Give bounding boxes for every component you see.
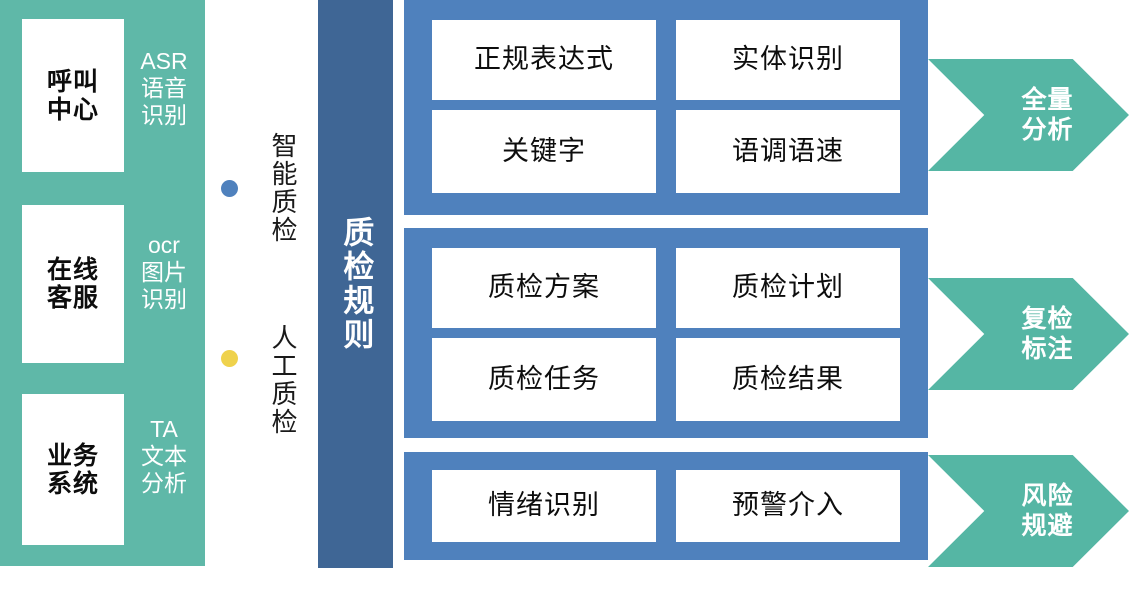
channel-label: 业务 系统 — [47, 442, 99, 498]
rule-item-box[interactable]: 质检方案 — [432, 248, 656, 328]
channel-label-line2: 客服 — [47, 284, 99, 312]
outcome-label-line2: 规避 — [1021, 511, 1073, 541]
tech-line1: 语音 — [128, 75, 200, 102]
rule-item-label: 语调语速 — [732, 137, 844, 167]
outcome-label: 全量 分析 — [1021, 85, 1073, 145]
bullet-dot-icon-intelligent — [221, 180, 238, 197]
rule-item-label: 预警介入 — [732, 491, 844, 521]
channel-box-call-center[interactable]: 呼叫 中心 — [22, 19, 124, 172]
rule-group-panel-1: 正规表达式 实体识别 关键字 语调语速 — [404, 0, 928, 215]
qc-rule-panel-title: 质检规则 — [337, 216, 375, 352]
tech-code: TA — [128, 416, 200, 443]
tech-code: ASR — [128, 48, 200, 75]
rule-item-box[interactable]: 预警介入 — [676, 470, 900, 542]
channel-label-line1: 业务 — [47, 442, 99, 470]
rule-item-box[interactable]: 实体识别 — [676, 20, 900, 100]
channel-label-line2: 系统 — [47, 470, 99, 498]
channel-label: 呼叫 中心 — [47, 68, 99, 124]
outcome-label-line2: 分析 — [1021, 115, 1073, 145]
rule-item-label: 情绪识别 — [488, 491, 600, 521]
bullet-label-intelligent-qc: 智能质检 — [258, 108, 298, 268]
outcome-label: 复检 标注 — [1021, 304, 1073, 364]
bullet-label-manual-qc: 人工质检 — [258, 300, 298, 460]
tech-line1: 图片 — [128, 259, 200, 286]
rule-group-panel-2: 质检方案 质检计划 质检任务 质检结果 — [404, 228, 928, 438]
channel-label-line1: 呼叫 — [47, 68, 99, 96]
rule-item-box[interactable]: 情绪识别 — [432, 470, 656, 542]
channel-source-panel: 呼叫 中心 在线 客服 业务 系统 ASR 语音 识别 ocr 图片 识别 — [0, 0, 205, 566]
tech-label-ta: TA 文本 分析 — [128, 416, 200, 497]
rule-item-label: 实体识别 — [732, 45, 844, 75]
channel-label-line2: 中心 — [47, 96, 99, 124]
rule-item-label: 质检计划 — [732, 273, 844, 303]
tech-label-asr: ASR 语音 识别 — [128, 48, 200, 129]
channel-label: 在线 客服 — [47, 256, 99, 312]
rule-item-label: 关键字 — [502, 137, 586, 167]
tech-line2: 分析 — [128, 470, 200, 497]
rule-item-box[interactable]: 关键字 — [432, 110, 656, 193]
rule-group-panel-3: 情绪识别 预警介入 — [404, 452, 928, 560]
outcome-chevron-risk-avoidance[interactable]: 风险 规避 — [928, 455, 1129, 567]
qc-rule-panel: 质检规则 — [318, 0, 393, 568]
outcome-label-line2: 标注 — [1021, 334, 1073, 364]
tech-label-ocr: ocr 图片 识别 — [128, 232, 200, 313]
outcome-label-line1: 全量 — [1021, 85, 1073, 115]
channel-box-online-service[interactable]: 在线 客服 — [22, 205, 124, 363]
rule-item-box[interactable]: 正规表达式 — [432, 20, 656, 100]
outcome-label-line1: 风险 — [1021, 481, 1073, 511]
rule-item-label: 质检方案 — [488, 273, 600, 303]
rule-item-box[interactable]: 语调语速 — [676, 110, 900, 193]
outcome-label-line1: 复检 — [1021, 304, 1073, 334]
rule-item-box[interactable]: 质检计划 — [676, 248, 900, 328]
rule-item-label: 正规表达式 — [474, 45, 614, 75]
rule-item-label: 质检结果 — [732, 365, 844, 395]
bullet-dot-icon-manual — [221, 350, 238, 367]
tech-line2: 识别 — [128, 102, 200, 129]
outcome-label: 风险 规避 — [1021, 481, 1073, 541]
rule-item-box[interactable]: 质检任务 — [432, 338, 656, 421]
channel-box-business-system[interactable]: 业务 系统 — [22, 394, 124, 545]
rule-item-box[interactable]: 质检结果 — [676, 338, 900, 421]
tech-line2: 识别 — [128, 286, 200, 313]
diagram-canvas: 呼叫 中心 在线 客服 业务 系统 ASR 语音 识别 ocr 图片 识别 — [0, 0, 1129, 603]
channel-label-line1: 在线 — [47, 256, 99, 284]
rule-item-label: 质检任务 — [488, 365, 600, 395]
tech-line1: 文本 — [128, 443, 200, 470]
outcome-chevron-full-analysis[interactable]: 全量 分析 — [928, 59, 1129, 171]
outcome-chevron-recheck-annotation[interactable]: 复检 标注 — [928, 278, 1129, 390]
tech-code: ocr — [128, 232, 200, 259]
